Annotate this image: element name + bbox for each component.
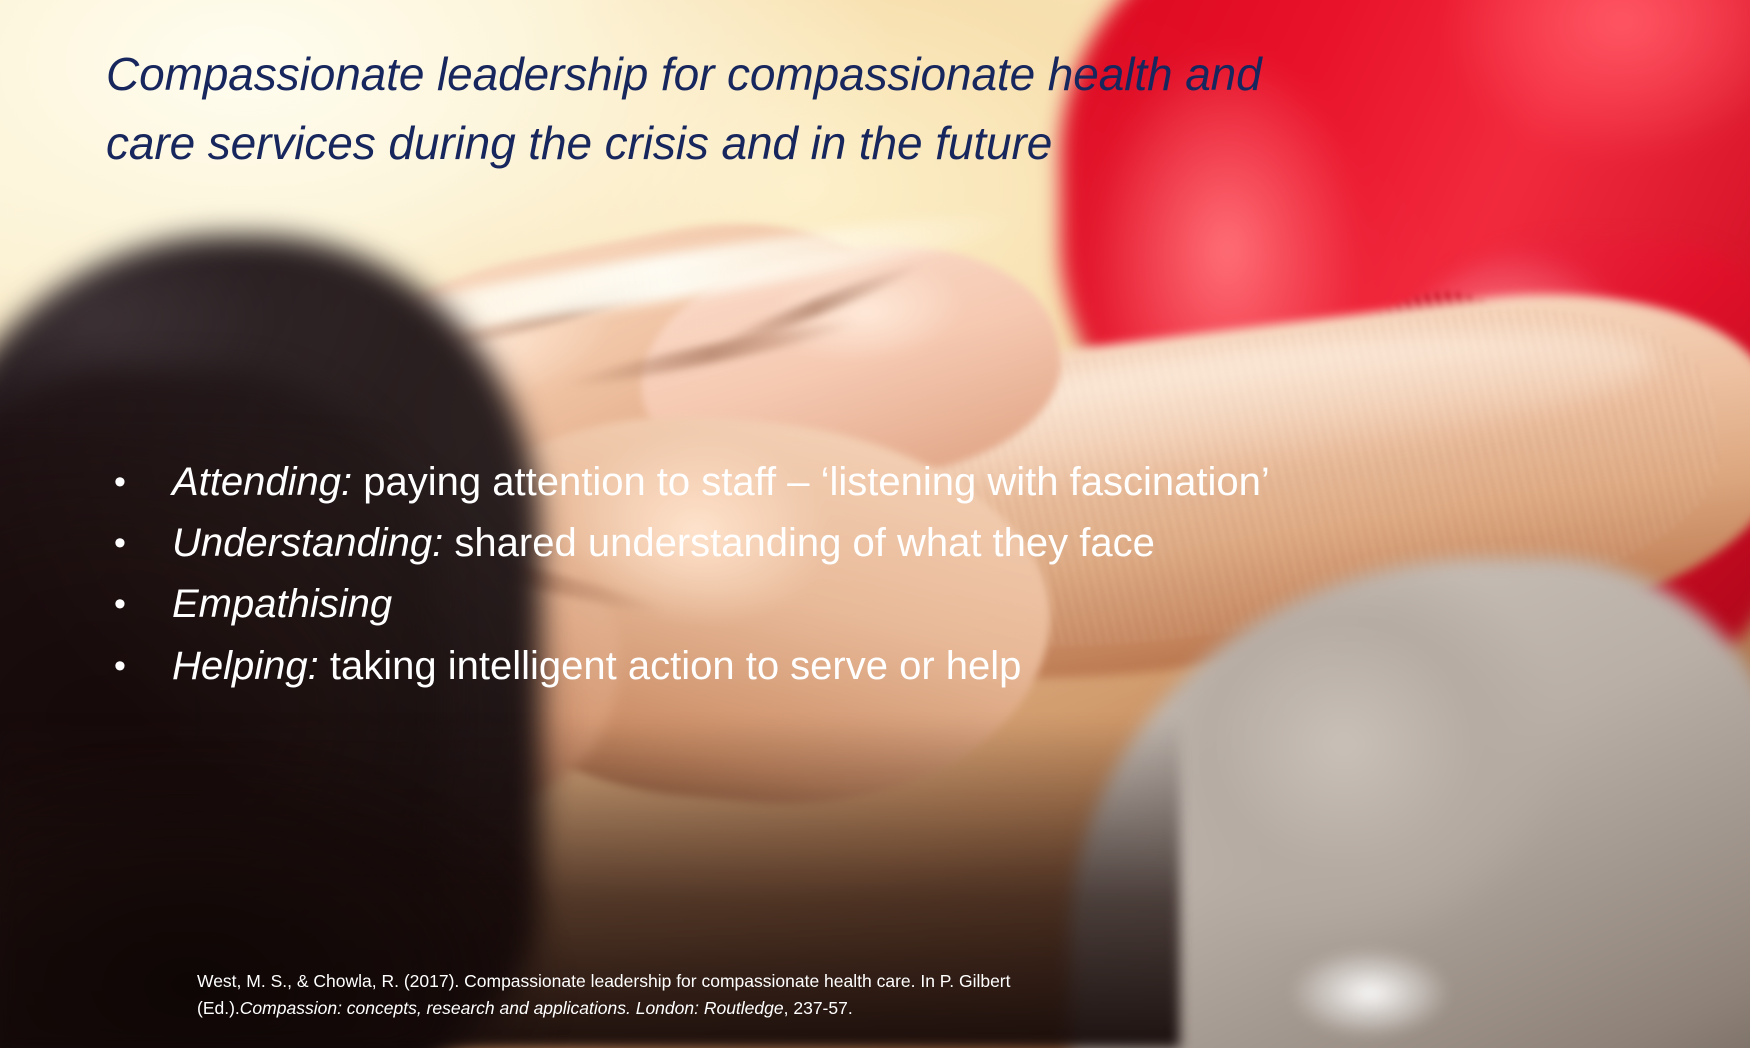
list-item-lead: Understanding: [172,521,443,565]
list-item: • Empathising [100,574,1370,635]
presentation-slide: Compassionate leadership for compassiona… [0,0,1750,1048]
citation-reference: West, M. S., & Chowla, R. (2017). Compas… [197,968,1097,1021]
list-item: • Helping: taking intelligent action to … [100,636,1370,697]
list-item-lead: Empathising [172,582,392,626]
list-item-text: Helping: taking intelligent action to se… [172,636,1370,697]
bullet-point-icon: • [100,574,172,634]
bullet-point-icon: • [100,636,172,696]
background-trouser-highlight [1290,948,1450,1038]
slide-title: Compassionate leadership for compassiona… [106,40,1356,178]
list-item-text: Empathising [172,574,1370,635]
list-item-text: Attending: paying attention to staff – ‘… [172,452,1370,513]
bullet-point-icon: • [100,452,172,512]
list-item: • Attending: paying attention to staff –… [100,452,1370,513]
citation-part-three: , 237-57. [784,998,853,1018]
list-item-rest: taking intelligent action to serve or he… [319,644,1022,688]
list-item-text: Understanding: shared understanding of w… [172,513,1370,574]
bullet-list: • Attending: paying attention to staff –… [100,452,1370,697]
list-item-lead: Helping: [172,644,319,688]
list-item-rest: paying attention to staff – ‘listening w… [352,460,1270,504]
list-item-lead: Attending: [172,460,352,504]
citation-part-italic: Compassion: concepts, research and appli… [240,998,784,1018]
list-item-rest: shared understanding of what they face [443,521,1155,565]
list-item: • Understanding: shared understanding of… [100,513,1370,574]
bullet-point-icon: • [100,513,172,573]
